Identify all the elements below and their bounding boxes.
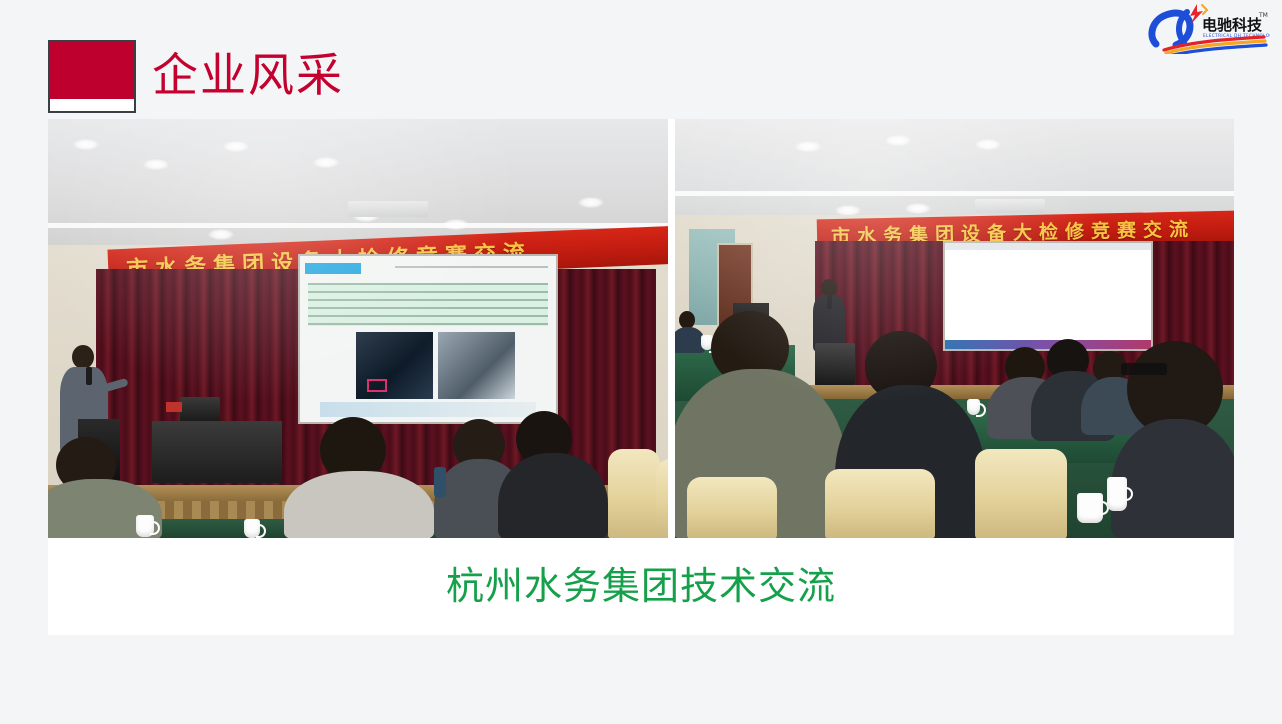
- downlight-icon: [885, 135, 911, 146]
- caption-area: 杭州水务集团技术交流: [48, 538, 1234, 635]
- gallery-photo-left[interactable]: 市水务集团设备大检修竞赛交流: [48, 119, 668, 538]
- projection-screen-left: [298, 254, 558, 424]
- chair: [656, 459, 668, 538]
- ceiling-trim: [675, 191, 1234, 196]
- downlight-icon: [313, 157, 339, 168]
- downlight-icon: [143, 159, 169, 170]
- tea-cup: [244, 519, 260, 538]
- stage-table: [152, 421, 282, 483]
- tea-cup: [1077, 493, 1103, 523]
- chair: [687, 477, 777, 538]
- gallery-photo-right[interactable]: 市水务集团设备大检修竞赛交流: [675, 119, 1234, 538]
- photo-right-scene: 市水务集团设备大检修竞赛交流: [675, 119, 1234, 538]
- ceiling-ac-unit: [975, 199, 1045, 213]
- company-logo: 电驰科技 TM ELECTRICAL DH TECHNOLOGY: [1146, 2, 1270, 54]
- section-mark-fill: [50, 42, 134, 99]
- tea-cup: [967, 399, 980, 415]
- downlight-icon: [578, 197, 604, 208]
- stage-monitor: [815, 343, 855, 385]
- svg-text:电驰科技: 电驰科技: [1202, 16, 1263, 34]
- screen-toolbar: [945, 243, 1151, 250]
- ceiling-ac-unit: [348, 201, 428, 217]
- page-root: 企业风采 电驰科技 TM ELECTRICAL DH TECHNOLOGY: [0, 0, 1282, 724]
- slide-rule: [395, 266, 549, 268]
- projection-screen-right: [943, 241, 1153, 351]
- photo-gallery: 市水务集团设备大检修竞赛交流: [48, 119, 1234, 538]
- slide-text-block: [308, 283, 549, 326]
- downlight-icon: [443, 219, 469, 230]
- microphone-icon: [827, 295, 832, 309]
- content-card: 市水务集团设备大检修竞赛交流: [48, 119, 1234, 635]
- downlight-icon: [73, 139, 99, 150]
- audience-body: [284, 471, 434, 538]
- slide-title-band: [305, 263, 361, 275]
- page-title: 企业风采: [152, 47, 344, 103]
- screen-taskbar: [945, 340, 1151, 349]
- slide-footer-logos: [320, 402, 535, 417]
- slide-highlight-box: [367, 379, 387, 392]
- photo-left-scene: 市水务集团设备大检修竞赛交流: [48, 119, 668, 538]
- chair: [608, 449, 660, 538]
- tea-cup: [1107, 477, 1127, 511]
- chair: [825, 469, 935, 538]
- svg-text:TM: TM: [1258, 12, 1268, 19]
- downlight-icon: [223, 141, 249, 152]
- microphone-icon: [86, 367, 92, 385]
- page-header: 企业风采 电驰科技 TM ELECTRICAL DH TECHNOLOGY: [0, 0, 1282, 118]
- eyeglasses-icon: [1121, 363, 1167, 375]
- downlight-icon: [208, 229, 234, 240]
- photo-caption: 杭州水务集团技术交流: [446, 564, 836, 610]
- ceiling-trim: [48, 223, 668, 228]
- downlight-icon: [975, 139, 1001, 150]
- downlight-icon: [905, 203, 931, 214]
- audience-body: [1111, 419, 1234, 538]
- slide-image-right: [438, 332, 515, 398]
- audience-body: [498, 453, 608, 538]
- chair: [975, 449, 1067, 538]
- section-mark-badge: [48, 40, 136, 113]
- presenter-head: [72, 345, 94, 369]
- downlight-icon: [795, 141, 821, 152]
- stage-red-object: [166, 402, 182, 412]
- tea-cup: [136, 515, 154, 537]
- water-bottle: [434, 467, 446, 497]
